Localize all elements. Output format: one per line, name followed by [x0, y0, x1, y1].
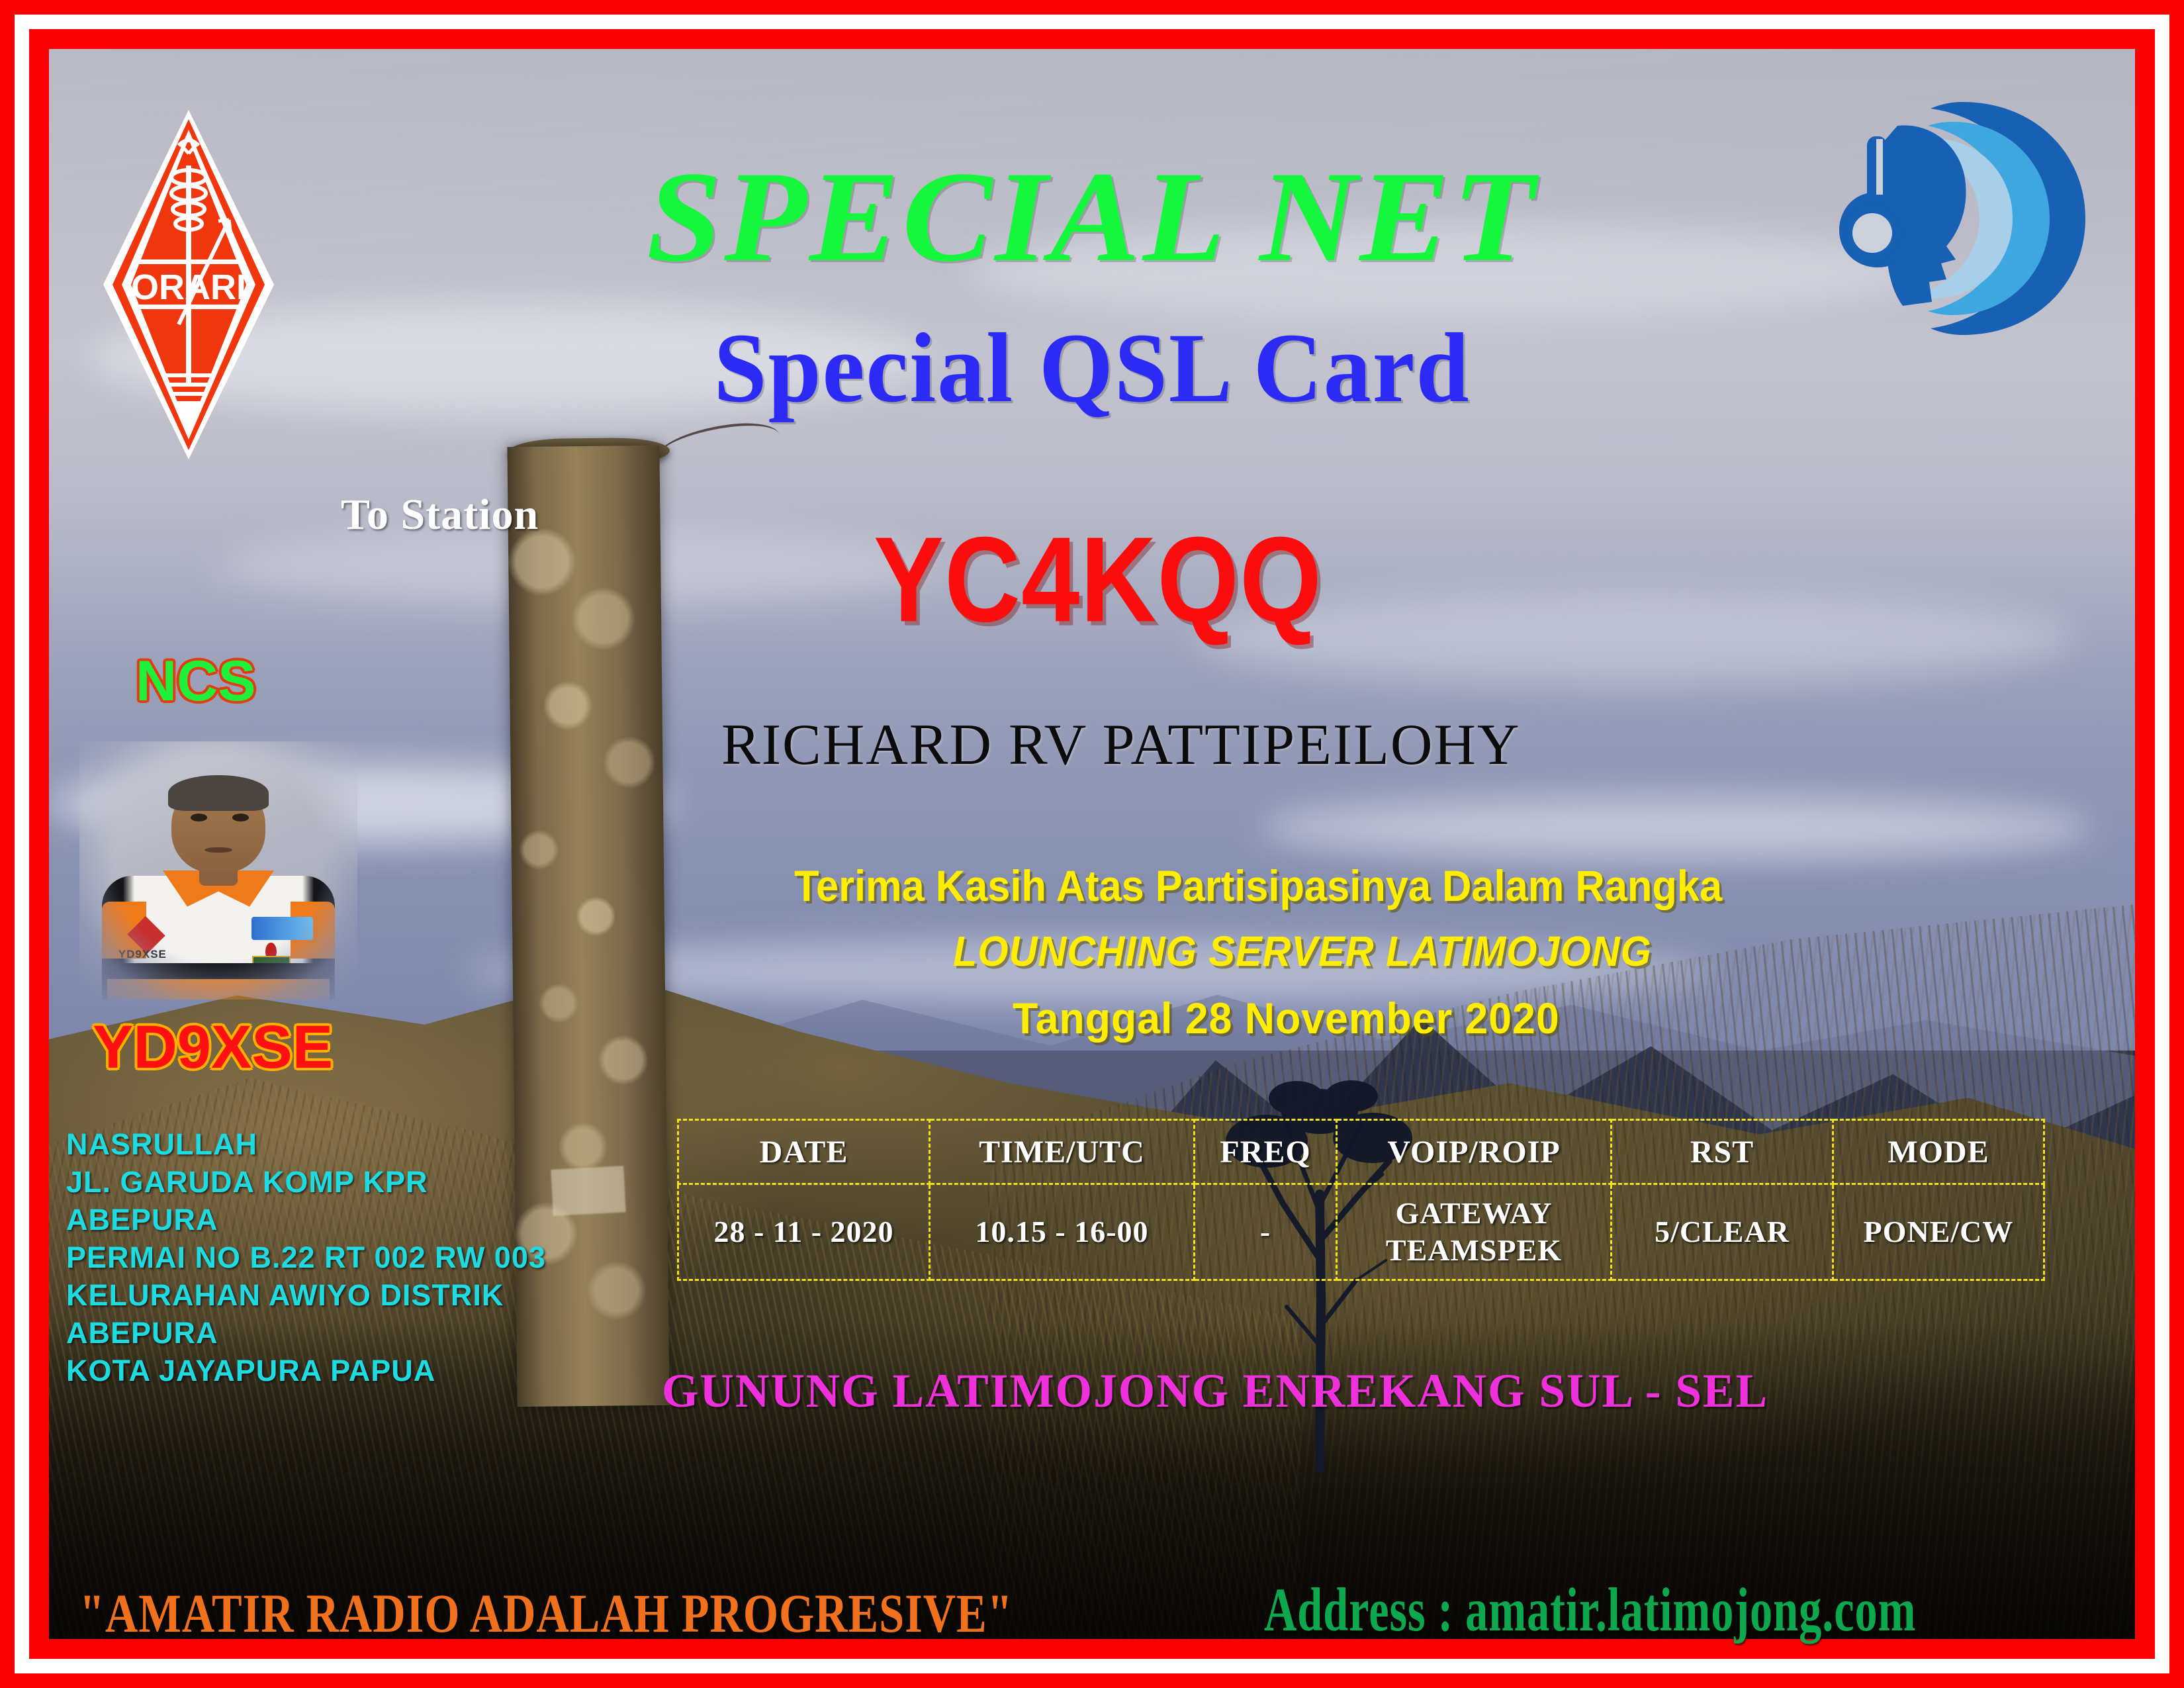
cell-freq: - — [1195, 1184, 1337, 1280]
header-freq: FREQ — [1195, 1120, 1337, 1184]
location-line: GUNUNG LATIMOJONG ENREKANG SUL - SEL — [662, 1364, 1768, 1419]
header-time: TIME/UTC — [930, 1120, 1195, 1184]
header-mode: MODE — [1833, 1120, 2044, 1184]
cell-time: 10.15 - 16-00 — [930, 1184, 1195, 1280]
address-line-3: PERMAI NO B.22 RT 002 RW 003 — [66, 1239, 546, 1276]
address-line-1: JL. GARUDA KOMP KPR — [66, 1163, 546, 1201]
uniform-callsign-text: YD9XSE — [118, 948, 167, 961]
slogan-text: "AMATIR RADIO ADALAH PROGRESIVE" — [79, 1582, 1013, 1645]
header-voip: VOIP/ROIP — [1337, 1120, 1612, 1184]
cell-mode: PONE/CW — [1833, 1184, 2044, 1280]
qso-log-table: DATE TIME/UTC FREQ VOIP/ROIP RST MODE 28… — [677, 1119, 2045, 1281]
cell-rst: 5/CLEAR — [1612, 1184, 1833, 1280]
thanks-line: Terima Kasih Atas Partisipasinya Dalam R… — [794, 861, 1722, 911]
uniform-logo-patch — [251, 917, 312, 940]
cell-voip-line1: GATEWAY — [1395, 1196, 1552, 1230]
cloud — [1197, 590, 2073, 685]
to-station-label: To Station — [341, 490, 539, 540]
title-special-qsl: Special QSL Card — [44, 311, 2140, 425]
address-line-5: ABEPURA — [66, 1314, 546, 1352]
event-line: LOUNCHING SERVER LATIMOJONG — [953, 927, 1652, 976]
event-date-line: Tanggal 28 November 2020 — [1013, 993, 1560, 1043]
ncs-callsign: YD9XSE — [93, 1013, 333, 1082]
address-line-0: NASRULLAH — [66, 1125, 546, 1163]
table-header-row: DATE TIME/UTC FREQ VOIP/ROIP RST MODE — [678, 1120, 2044, 1184]
postal-address-block: NASRULLAHJL. GARUDA KOMP KPRABEPURAPERMA… — [66, 1125, 546, 1389]
ncs-operator-photo: YD9XSE — [79, 741, 357, 1000]
header-rst: RST — [1612, 1120, 1833, 1184]
cell-date: 28 - 11 - 2020 — [678, 1184, 930, 1280]
table-row: 28 - 11 - 2020 10.15 - 16-00 - GATEWAY T… — [678, 1184, 2044, 1280]
web-address-line: Address : amatir.latimojong.com — [1264, 1575, 1916, 1646]
address-line-4: KELURAHAN AWIYO DISTRIK — [66, 1276, 546, 1314]
ncs-label: NCS — [136, 649, 256, 714]
cell-voip-line2: TEAMSPEK — [1386, 1233, 1562, 1267]
station-callsign: YC4KQQ — [874, 510, 1322, 649]
address-line-2: ABEPURA — [66, 1201, 546, 1239]
header-date: DATE — [678, 1120, 930, 1184]
cell-voip: GATEWAY TEAMSPEK — [1337, 1184, 1612, 1280]
monument-plaque — [551, 1166, 626, 1216]
title-special-net: SPECIAL NET — [0, 142, 2184, 291]
operator-name: RICHARD RV PATTIPEILOHY — [721, 712, 1521, 778]
cloud — [1259, 796, 2093, 860]
qsl-card: ORARI YD9XSE — [0, 0, 2184, 1688]
address-line-6: KOTA JAYAPURA PAPUA — [66, 1352, 546, 1389]
